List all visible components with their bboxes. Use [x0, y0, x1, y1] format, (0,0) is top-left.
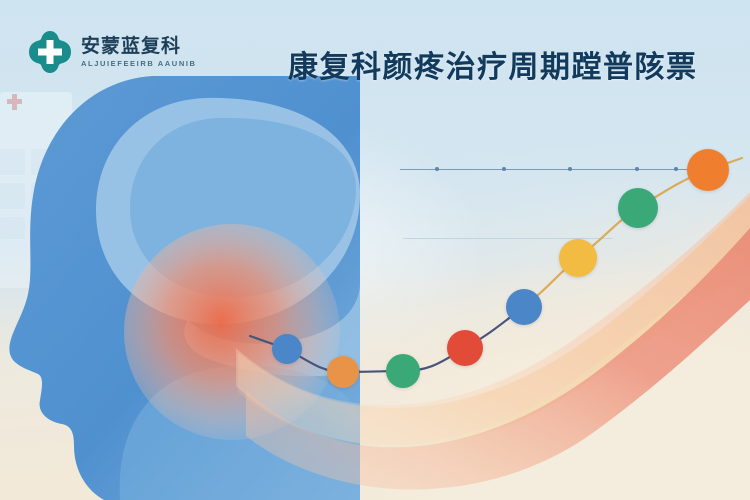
- page-title: 康复科颜疼治疗周期蹚普陔票: [288, 42, 698, 86]
- medical-cross-icon: [28, 30, 72, 74]
- poster-canvas: 安蒙蓝复科 ALJUIEFEEIRB AAUNIB 康复科颜疼治疗周期蹚普陔票: [0, 0, 750, 500]
- data-point-stage-2[interactable]: [327, 356, 359, 388]
- brand-logo-text: 安蒙蓝复科 ALJUIEFEEIRB AAUNIB: [81, 36, 197, 68]
- data-point-stage-3[interactable]: [386, 354, 420, 388]
- brand-logo[interactable]: 安蒙蓝复科 ALJUIEFEEIRB AAUNIB: [28, 30, 197, 74]
- data-point-stage-1[interactable]: [272, 334, 302, 364]
- data-point-stage-8[interactable]: [687, 149, 729, 191]
- data-point-stage-5[interactable]: [506, 289, 542, 325]
- data-point-stage-6[interactable]: [559, 239, 597, 277]
- brand-name-cn: 安蒙蓝复科: [81, 36, 197, 57]
- data-point-stage-4[interactable]: [447, 330, 483, 366]
- data-point-stage-7[interactable]: [618, 188, 658, 228]
- brand-name-en: ALJUIEFEEIRB AAUNIB: [81, 59, 197, 68]
